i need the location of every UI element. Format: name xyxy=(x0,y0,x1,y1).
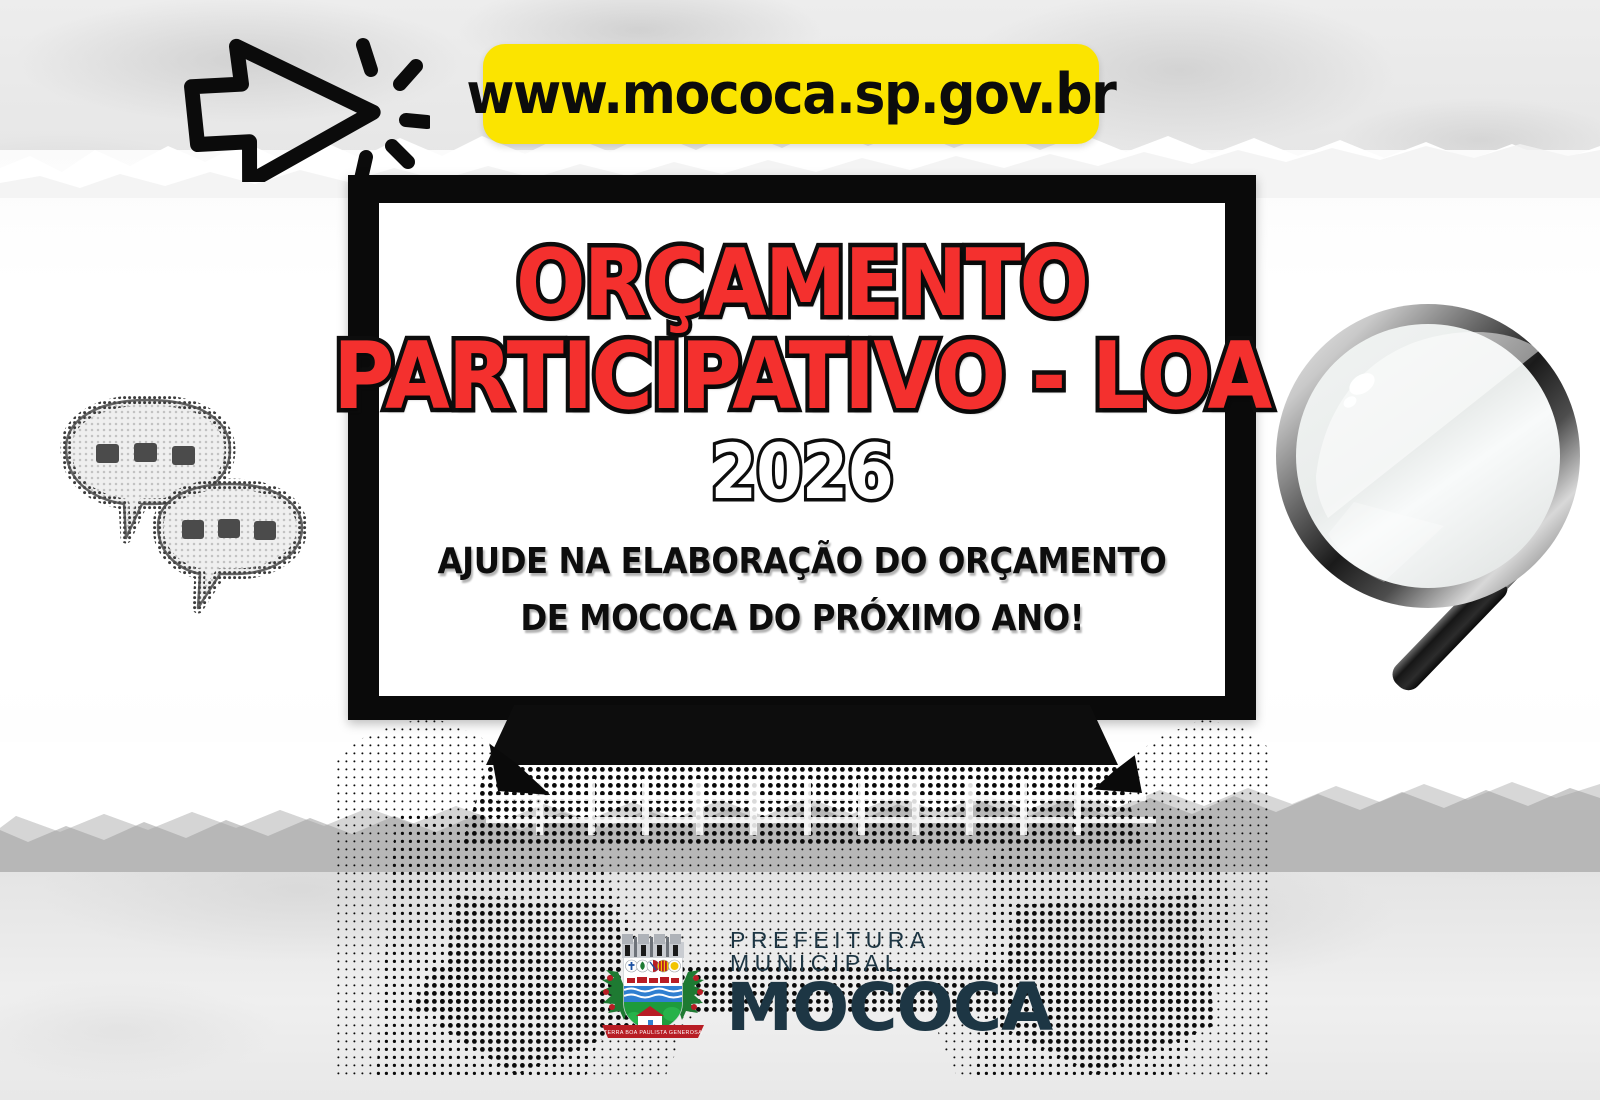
prefeitura-mococa-logo: TERRA BOA PAULISTA GENEROSA PREFEITURA M… xyxy=(594,928,974,1040)
laptop-screen-content: ORÇAMENTO PARTICIPATIVO - LOA 2026 AJUDE… xyxy=(379,203,1225,696)
magnifying-glass-icon xyxy=(1268,288,1600,708)
mococa-coat-of-arms-icon: TERRA BOA PAULISTA GENEROSA xyxy=(594,928,712,1040)
poster-subtitle-line-2: DE MOCOCA DO PRÓXIMO ANO! xyxy=(520,591,1084,647)
website-url-banner[interactable]: www.mococa.sp.gov.br xyxy=(483,44,1099,144)
poster-subtitle-line-1: AJUDE NA ELABORAÇÃO DO ORÇAMENTO xyxy=(438,534,1167,590)
crest-motto: TERRA BOA PAULISTA GENEROSA xyxy=(604,1030,702,1036)
speech-bubbles-icon xyxy=(48,386,328,636)
laptop-screen-bezel: ORÇAMENTO PARTICIPATIVO - LOA 2026 AJUDE… xyxy=(348,175,1256,720)
poster-title-line-1: ORÇAMENTO xyxy=(516,239,1087,328)
logo-wordmark: PREFEITURA MUNICIPAL MOCOCA xyxy=(726,929,1046,1040)
poster-title-line-2: PARTICIPATIVO - LOA xyxy=(333,332,1270,421)
poster-canvas: www.mococa.sp.gov.br xyxy=(0,0,1600,1100)
logo-city-text: MOCOCA xyxy=(726,977,1052,1040)
cursor-arrow-click-icon xyxy=(168,22,430,182)
poster-year: 2026 xyxy=(711,434,894,510)
website-url-text: www.mococa.sp.gov.br xyxy=(467,62,1116,127)
